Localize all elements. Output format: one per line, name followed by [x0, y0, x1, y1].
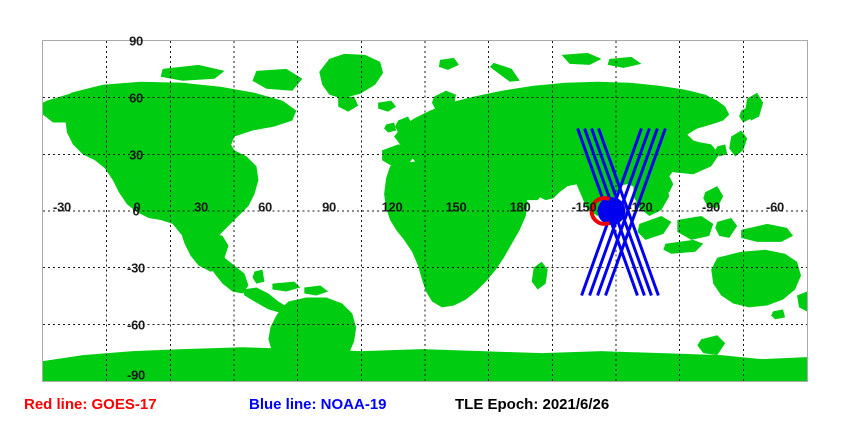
- lon-label--60: -60: [766, 201, 784, 214]
- lat-label-90: 90: [129, 35, 143, 48]
- lon-label--30: -30: [53, 201, 71, 214]
- lat-label--90: -90: [127, 369, 145, 382]
- lat-label--60: -60: [127, 319, 145, 332]
- lon-label--120: -120: [628, 201, 653, 214]
- lon-label--150: -150: [572, 201, 597, 214]
- lon-label-180: 180: [510, 201, 531, 214]
- legend-bar: Red line: GOES-17 Blue line: NOAA-19 TLE…: [0, 392, 850, 425]
- legend-red-line-goes17: Red line: GOES-17: [24, 397, 157, 412]
- lon-label--90: -90: [702, 201, 720, 214]
- world-map-canvas: [43, 41, 807, 381]
- lat-label-30: 30: [129, 149, 143, 162]
- legend-blue-line-noaa19: Blue line: NOAA-19: [249, 397, 387, 412]
- world-map-panel: [42, 40, 808, 382]
- satellite-ground-track-map: 90 60 30 0 -30 -60 -90 -30 0 30 60 90 12…: [0, 0, 850, 425]
- lon-label-90: 90: [322, 201, 336, 214]
- lon-label-150: 150: [446, 201, 467, 214]
- lon-label-60: 60: [258, 201, 272, 214]
- goes17-dot: [598, 197, 626, 225]
- lon-label-0: 0: [134, 201, 141, 214]
- legend-tle-epoch: TLE Epoch: 2021/6/26: [455, 397, 609, 412]
- lon-label-120: 120: [382, 201, 403, 214]
- lon-label-30: 30: [194, 201, 208, 214]
- lat-label-60: 60: [129, 92, 143, 105]
- lat-label--30: -30: [127, 262, 145, 275]
